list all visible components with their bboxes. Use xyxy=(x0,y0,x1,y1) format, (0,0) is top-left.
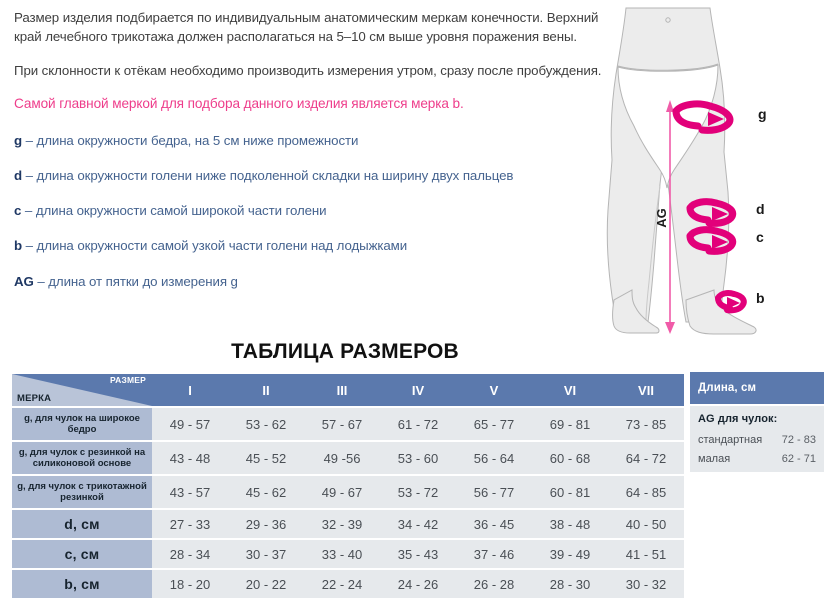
body-figure xyxy=(607,8,756,334)
row-label: g, для чулок на широкое бедро xyxy=(12,408,152,440)
row-label: c, см xyxy=(12,540,152,568)
table-cell: 61 - 72 xyxy=(380,408,456,440)
table-row: d, см 27 - 33 29 - 36 32 - 39 34 - 42 36… xyxy=(12,510,684,538)
size-table: РАЗМЕР МЕРКА I II III IV V VI VII g, для… xyxy=(12,372,684,600)
intro-paragraph-1: Размер изделия подбирается по индивидуал… xyxy=(14,8,614,47)
table-cell: 73 - 85 xyxy=(608,408,684,440)
table-cell: 39 - 49 xyxy=(532,540,608,568)
ag-panel-row: малая 62 - 71 xyxy=(698,453,816,465)
definition-text-c: длина окружности самой широкой части гол… xyxy=(36,203,327,218)
size-table-section: РАЗМЕР МЕРКА I II III IV V VI VII g, для… xyxy=(12,372,824,600)
ag-row-name: стандартная xyxy=(698,434,762,446)
table-cell: 27 - 33 xyxy=(152,510,228,538)
ag-row-name: малая xyxy=(698,453,730,465)
ag-label: AG xyxy=(654,208,669,228)
ag-row-value: 62 - 71 xyxy=(782,453,816,465)
row-label: b, см xyxy=(12,570,152,598)
table-cell: 43 - 48 xyxy=(152,442,228,474)
table-cell: 41 - 51 xyxy=(608,540,684,568)
table-cell: 65 - 77 xyxy=(456,408,532,440)
definition-key-g: g xyxy=(14,133,22,148)
table-row: g, для чулок на широкое бедро 49 - 57 53… xyxy=(12,408,684,440)
table-cell: 30 - 32 xyxy=(608,570,684,598)
definition-dash-g: – xyxy=(26,133,33,148)
definition-b: b – длина окружности самой узкой части г… xyxy=(14,237,614,254)
table-cell: 37 - 46 xyxy=(456,540,532,568)
illustration-label-b: b xyxy=(756,290,765,306)
table-cell: 45 - 52 xyxy=(228,442,304,474)
info-section: Размер изделия подбирается по индивидуал… xyxy=(0,0,836,340)
definition-dash-b: – xyxy=(26,238,33,253)
table-row: g, для чулок с трикотажной резинкой 43 -… xyxy=(12,476,684,508)
definition-key-ag: AG xyxy=(14,274,34,289)
table-cell: 20 - 22 xyxy=(228,570,304,598)
illustration-label-c: c xyxy=(756,229,764,245)
table-cell: 49 -56 xyxy=(304,442,380,474)
table-cell: 30 - 37 xyxy=(228,540,304,568)
column-header-4: IV xyxy=(380,374,456,406)
definition-key-d: d xyxy=(14,168,22,183)
definition-dash-d: – xyxy=(26,168,33,183)
table-cell: 64 - 85 xyxy=(608,476,684,508)
table-cell: 43 - 57 xyxy=(152,476,228,508)
definition-text-b: длина окружности самой узкой части голен… xyxy=(37,238,408,253)
definition-text-g: длина окружности бедра, на 5 см ниже про… xyxy=(37,133,359,148)
table-cell: 38 - 48 xyxy=(532,510,608,538)
illustration-label-d: d xyxy=(756,201,765,217)
definition-key-c: c xyxy=(14,203,21,218)
table-cell: 56 - 77 xyxy=(456,476,532,508)
highlight-note: Самой главной меркой для подбора данного… xyxy=(14,94,614,114)
ag-panel-header: Длина, см xyxy=(690,372,824,404)
column-header-3: III xyxy=(304,374,380,406)
definition-c: c – длина окружности самой широкой части… xyxy=(14,202,614,219)
table-cell: 45 - 62 xyxy=(228,476,304,508)
table-cell: 69 - 81 xyxy=(532,408,608,440)
ag-row-value: 72 - 83 xyxy=(782,434,816,446)
table-cell: 53 - 72 xyxy=(380,476,456,508)
corner-size-label: РАЗМЕР xyxy=(110,375,146,385)
definition-dash-ag: – xyxy=(37,274,44,289)
table-cell: 35 - 43 xyxy=(380,540,456,568)
table-cell: 29 - 36 xyxy=(228,510,304,538)
table-row: b, см 18 - 20 20 - 22 22 - 24 24 - 26 26… xyxy=(12,570,684,598)
table-cell: 18 - 20 xyxy=(152,570,228,598)
table-cell: 53 - 60 xyxy=(380,442,456,474)
table-cell: 28 - 34 xyxy=(152,540,228,568)
table-cell: 32 - 39 xyxy=(304,510,380,538)
table-cell: 28 - 30 xyxy=(532,570,608,598)
column-header-6: VI xyxy=(532,374,608,406)
corner-measure-label: МЕРКА xyxy=(17,393,51,404)
row-label: d, см xyxy=(12,510,152,538)
header-corner-cell: РАЗМЕР МЕРКА xyxy=(12,374,152,406)
table-cell: 33 - 40 xyxy=(304,540,380,568)
definition-key-b: b xyxy=(14,238,22,253)
text-column: Размер изделия подбирается по индивидуал… xyxy=(14,8,614,290)
definition-dash-c: – xyxy=(25,203,32,218)
intro-paragraph-2: При склонности к отёкам необходимо произ… xyxy=(14,61,614,80)
column-header-7: VII xyxy=(608,374,684,406)
page-title: ТАБЛИЦА РАЗМЕРОВ xyxy=(0,340,690,364)
ag-length-panel: Длина, см AG для чулок: стандартная 72 -… xyxy=(690,372,824,472)
definition-text-ag: длина от пятки до измерения g xyxy=(48,274,238,289)
column-header-1: I xyxy=(152,374,228,406)
size-table-body: g, для чулок на широкое бедро 49 - 57 53… xyxy=(12,408,684,598)
table-cell: 60 - 68 xyxy=(532,442,608,474)
leg-measurement-illustration: AG g d c xyxy=(598,0,836,345)
ag-panel-row: стандартная 72 - 83 xyxy=(698,434,816,446)
definition-g: g – длина окружности бедра, на 5 см ниже… xyxy=(14,132,614,149)
row-label: g, для чулок с трикотажной резинкой xyxy=(12,476,152,508)
ag-panel-title: AG для чулок: xyxy=(698,413,816,425)
table-cell: 64 - 72 xyxy=(608,442,684,474)
table-row: c, см 28 - 34 30 - 37 33 - 40 35 - 43 37… xyxy=(12,540,684,568)
column-header-5: V xyxy=(456,374,532,406)
definition-d: d – длина окружности голени ниже подколе… xyxy=(14,167,614,184)
corner-inner: РАЗМЕР МЕРКА xyxy=(12,374,152,406)
table-cell: 57 - 67 xyxy=(304,408,380,440)
table-cell: 53 - 62 xyxy=(228,408,304,440)
table-cell: 22 - 24 xyxy=(304,570,380,598)
table-cell: 56 - 64 xyxy=(456,442,532,474)
row-label: g, для чулок с резинкой на силиконовой о… xyxy=(12,442,152,474)
table-row: g, для чулок с резинкой на силиконовой о… xyxy=(12,442,684,474)
table-cell: 49 - 67 xyxy=(304,476,380,508)
table-cell: 49 - 57 xyxy=(152,408,228,440)
table-cell: 40 - 50 xyxy=(608,510,684,538)
column-header-2: II xyxy=(228,374,304,406)
table-cell: 34 - 42 xyxy=(380,510,456,538)
table-cell: 60 - 81 xyxy=(532,476,608,508)
ag-panel-body: AG для чулок: стандартная 72 - 83 малая … xyxy=(690,406,824,472)
size-table-header-row: РАЗМЕР МЕРКА I II III IV V VI VII xyxy=(12,374,684,406)
table-cell: 36 - 45 xyxy=(456,510,532,538)
definition-ag: AG – длина от пятки до измерения g xyxy=(14,273,614,290)
illustration-label-g: g xyxy=(758,106,767,122)
definition-text-d: длина окружности голени ниже подколенной… xyxy=(37,168,514,183)
size-table-head: РАЗМЕР МЕРКА I II III IV V VI VII xyxy=(12,374,684,406)
table-cell: 24 - 26 xyxy=(380,570,456,598)
table-cell: 26 - 28 xyxy=(456,570,532,598)
measurement-definitions: g – длина окружности бедра, на 5 см ниже… xyxy=(14,132,614,290)
